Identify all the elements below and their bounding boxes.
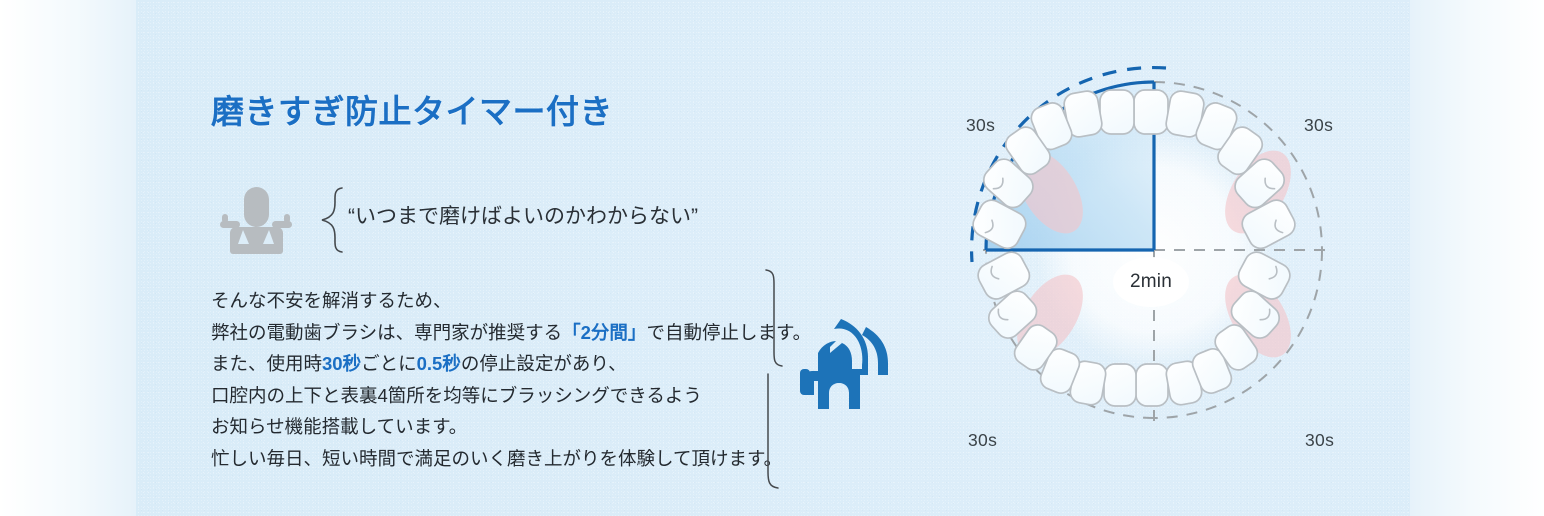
body-text: お知らせ機能搭載しています。 bbox=[211, 416, 467, 437]
body-text: 忙しい毎日、短い時間で満足のいく磨き上がりを体験して頂けます。 bbox=[211, 448, 782, 469]
page-title: 磨きすぎ防止タイマー付き bbox=[211, 85, 613, 133]
body-line: また、使用時30秒ごとに0.5秒の停止設定があり、 bbox=[211, 348, 771, 380]
body-line: 忙しい毎日、短い時間で満足のいく磨き上がりを体験して頂けます。 bbox=[211, 443, 771, 475]
right-margin bbox=[1410, 0, 1544, 516]
brace-top-icon bbox=[762, 268, 790, 368]
feature-panel: 磨きすぎ防止タイマー付き “いつまで磨けばよいのかわからない” そんな不安を解消… bbox=[0, 0, 1544, 516]
brace-bottom-icon bbox=[762, 372, 790, 490]
customer-quote: “いつまで磨けばよいのかわからない” bbox=[348, 200, 698, 230]
body-text: ごとに bbox=[361, 353, 417, 374]
label-30s-bottom-left: 30s bbox=[968, 430, 997, 451]
shrugging-person-icon bbox=[219, 183, 293, 255]
highlighted-term: 「2分間」 bbox=[562, 322, 646, 343]
body-line: そんな不安を解消するため、 bbox=[211, 285, 771, 317]
body-line: 弊社の電動歯ブラシは、専門家が推奨する「2分間」で自動停止します。 bbox=[211, 317, 771, 349]
body-copy: そんな不安を解消するため、弊社の電動歯ブラシは、専門家が推奨する「2分間」で自動… bbox=[211, 285, 771, 474]
horse-logo-icon bbox=[800, 313, 900, 415]
dental-arch-timer-diagram bbox=[928, 24, 1380, 476]
center-duration-badge: 2min bbox=[1113, 257, 1189, 307]
label-30s-bottom-right: 30s bbox=[1305, 430, 1334, 451]
highlighted-term: 0.5秒 bbox=[417, 353, 461, 374]
body-text: また、使用時 bbox=[211, 353, 322, 374]
body-text: の停止設定があり、 bbox=[461, 353, 627, 374]
left-margin bbox=[0, 0, 136, 516]
body-line: お知らせ機能搭載しています。 bbox=[211, 411, 771, 443]
highlighted-term: 30秒 bbox=[322, 353, 361, 374]
body-text: そんな不安を解消するため、 bbox=[211, 290, 452, 311]
center-duration-label: 2min bbox=[1130, 271, 1172, 293]
body-line: 口腔内の上下と表裏4箇所を均等にブラッシングできるよう bbox=[211, 380, 771, 412]
label-30s-top-right: 30s bbox=[1304, 115, 1333, 136]
body-text: 弊社の電動歯ブラシは、専門家が推奨する bbox=[211, 322, 562, 343]
quote-brace-icon bbox=[316, 186, 346, 254]
body-text: 口腔内の上下と表裏4箇所を均等にブラッシングできるよう bbox=[211, 385, 702, 406]
label-30s-top-left: 30s bbox=[966, 115, 995, 136]
